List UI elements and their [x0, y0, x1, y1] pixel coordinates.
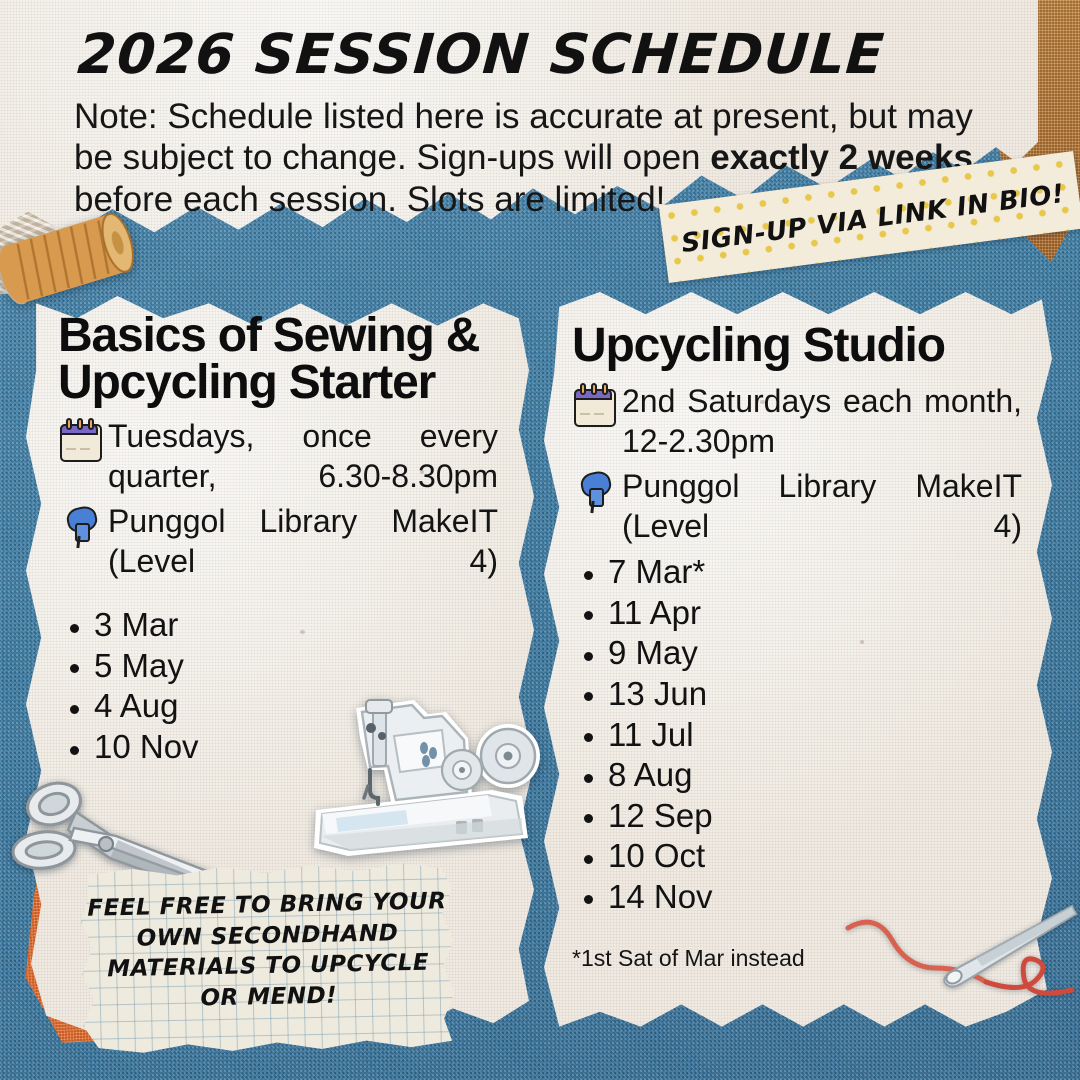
- needle-and-thread-sticker: [836, 896, 1078, 1032]
- calendar-icon: [572, 383, 616, 427]
- card-right-schedule-row: 2nd Saturdays each month, 12-2.30pm: [572, 381, 1032, 462]
- card-right-title: Upcycling Studio: [572, 322, 1032, 369]
- note-suffix: before each session. Slots are limited!: [74, 180, 665, 219]
- date-list-item: 11 Apr: [572, 593, 1032, 634]
- poster-canvas: 2026 SESSION SCHEDULE Note: Schedule lis…: [0, 0, 1080, 1080]
- pushpin-icon: [572, 468, 616, 516]
- pushpin-icon: [58, 503, 102, 551]
- date-list-item: 11 Jul: [572, 715, 1032, 756]
- card-left-location-row: Punggol Library MakeIT (Level 4): [58, 501, 508, 582]
- card-right-date-list: 7 Mar*11 Apr9 May13 Jun11 Jul8 Aug12 Sep…: [572, 552, 1032, 917]
- card-right-content: Upcycling Studio 2nd Saturdays each mont…: [572, 322, 1032, 972]
- card-right-location-row: Punggol Library MakeIT (Level 4): [572, 466, 1032, 547]
- date-list-item: 13 Jun: [572, 674, 1032, 715]
- calendar-icon: [58, 418, 102, 462]
- card-left-schedule-row: Tuesdays, once every quarter, 6.30-8.30p…: [58, 416, 508, 497]
- sewing-machine-sticker: [296, 678, 548, 883]
- card-left-title-line1: Basics of Sewing &: [58, 312, 508, 359]
- card-right-title-line1: Upcycling Studio: [572, 322, 1032, 369]
- card-right-schedule: 2nd Saturdays each month, 12-2.30pm: [622, 381, 1022, 462]
- date-list-item: 12 Sep: [572, 796, 1032, 837]
- card-left-schedule: Tuesdays, once every quarter, 6.30-8.30p…: [108, 416, 498, 497]
- graph-note-text: FEEL FREE TO BRING YOUR OWN SECONDHAND M…: [81, 886, 455, 1016]
- date-list-item: 8 Aug: [572, 755, 1032, 796]
- card-left-title-line2: Upcycling Starter: [58, 359, 508, 406]
- graph-paper-note: FEEL FREE TO BRING YOUR OWN SECONDHAND M…: [80, 862, 456, 1056]
- date-list-item: 10 Oct: [572, 836, 1032, 877]
- card-left-location: Punggol Library MakeIT (Level 4): [108, 501, 498, 582]
- date-list-item: 9 May: [572, 633, 1032, 674]
- card-left-title: Basics of Sewing & Upcycling Starter: [58, 312, 508, 406]
- date-list-item: 7 Mar*: [572, 552, 1032, 593]
- page-title: 2026 SESSION SCHEDULE: [76, 22, 887, 86]
- card-right-location: Punggol Library MakeIT (Level 4): [622, 466, 1022, 547]
- date-list-item: 3 Mar: [58, 605, 508, 646]
